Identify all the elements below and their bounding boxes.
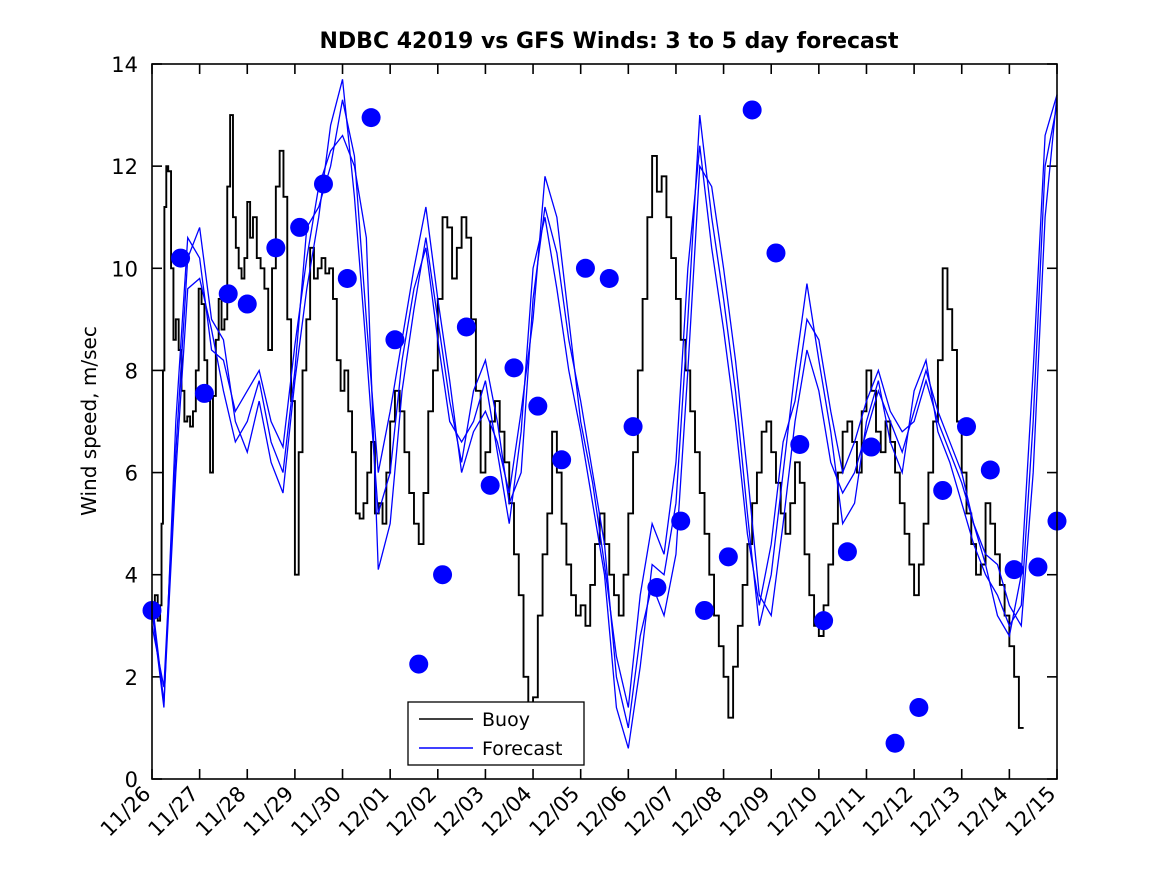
data-point-marker (671, 512, 690, 531)
chart-figure: NDBC 42019 vs GFS Winds: 3 to 5 day fore… (0, 0, 1167, 875)
y-tick-label: 12 (111, 155, 138, 179)
data-point-marker (171, 249, 190, 268)
data-point-marker (290, 218, 309, 237)
data-point-marker (1028, 558, 1047, 577)
data-point-marker (481, 476, 500, 495)
data-point-marker (790, 435, 809, 454)
data-point-marker (695, 601, 714, 620)
data-point-marker (647, 578, 666, 597)
data-point-marker (981, 461, 1000, 480)
data-point-marker (957, 417, 976, 436)
data-point-marker (362, 108, 381, 127)
data-point-marker (409, 655, 428, 674)
y-tick-label: 14 (111, 53, 138, 77)
data-point-marker (433, 565, 452, 584)
data-point-marker (766, 243, 785, 262)
data-point-marker (338, 269, 357, 288)
data-point-marker (528, 397, 547, 416)
wind-speed-chart: NDBC 42019 vs GFS Winds: 3 to 5 day fore… (0, 0, 1167, 875)
y-tick-label: 2 (125, 666, 138, 690)
chart-title: NDBC 42019 vs GFS Winds: 3 to 5 day fore… (320, 29, 899, 54)
data-point-marker (505, 358, 524, 377)
y-tick-label: 6 (125, 462, 138, 486)
y-axis-label: Wind speed, m/sec (77, 326, 101, 516)
data-point-marker (552, 450, 571, 469)
data-point-marker (933, 481, 952, 500)
y-tick-label: 8 (125, 359, 138, 383)
data-point-marker (719, 547, 738, 566)
y-tick-label: 4 (125, 564, 138, 588)
chart-legend: Buoy Forecast (408, 702, 584, 765)
data-point-marker (238, 295, 257, 314)
legend-label-buoy: Buoy (482, 709, 530, 731)
data-point-marker (195, 384, 214, 403)
data-point-marker (314, 175, 333, 194)
legend-label-forecast: Forecast (482, 738, 562, 760)
data-point-marker (1005, 560, 1024, 579)
data-point-marker (457, 318, 476, 337)
data-point-marker (600, 269, 619, 288)
y-tick-label: 10 (111, 257, 138, 281)
data-point-marker (385, 330, 404, 349)
data-point-marker (886, 734, 905, 753)
data-point-marker (814, 611, 833, 630)
data-point-marker (862, 438, 881, 457)
data-point-marker (266, 238, 285, 257)
data-point-marker (219, 284, 238, 303)
data-point-marker (909, 698, 928, 717)
data-point-marker (838, 542, 857, 561)
data-point-marker (743, 100, 762, 119)
data-point-marker (576, 259, 595, 278)
data-point-marker (624, 417, 643, 436)
